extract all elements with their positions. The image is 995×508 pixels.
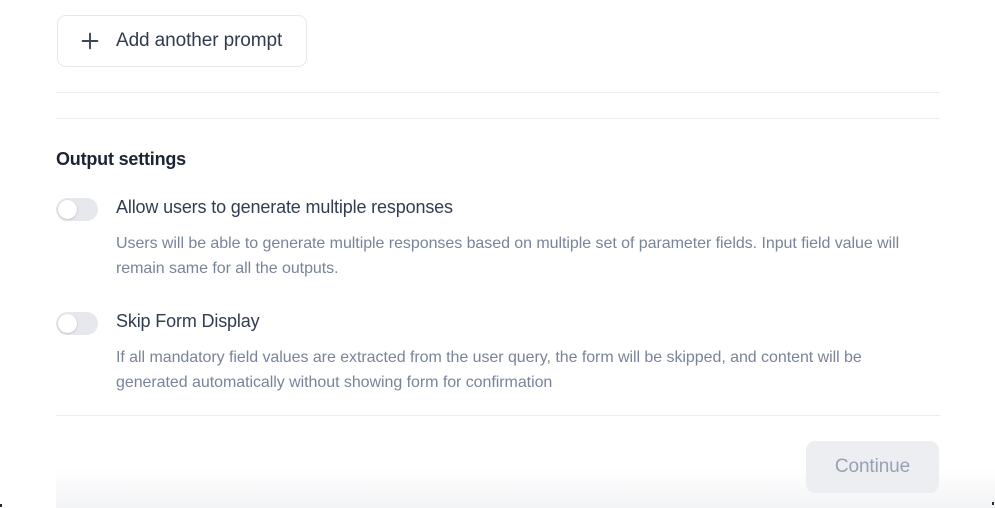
toggle-knob: [58, 314, 77, 333]
setting-text-block: Skip Form Display If all mandatory field…: [116, 310, 916, 395]
add-another-prompt-button[interactable]: Add another prompt: [57, 15, 307, 67]
setting-text-block: Allow users to generate multiple respons…: [116, 196, 916, 281]
add-another-prompt-label: Add another prompt: [116, 30, 282, 52]
setting-row-multiple-responses: Allow users to generate multiple respons…: [56, 196, 946, 281]
setting-label-skip-form-display: Skip Form Display: [116, 310, 916, 332]
plus-icon: [80, 31, 100, 51]
output-settings-title: Output settings: [56, 149, 186, 170]
continue-button[interactable]: Continue: [806, 441, 939, 493]
toggle-allow-multiple-responses[interactable]: [56, 198, 98, 221]
setting-description-skip-form-display: If all mandatory field values are extrac…: [116, 345, 916, 395]
divider-footer: [56, 415, 940, 416]
corner-artifact-bottom-right: [992, 502, 994, 505]
settings-page: Add another prompt Output settings Allow…: [0, 0, 995, 508]
add-prompt-container: Add another prompt: [57, 15, 307, 67]
toggle-skip-form-display[interactable]: [56, 312, 98, 335]
setting-row-skip-form-display: Skip Form Display If all mandatory field…: [56, 310, 946, 395]
toggle-knob: [58, 200, 77, 219]
setting-description-allow-multiple-responses: Users will be able to generate multiple …: [116, 231, 916, 281]
divider-section: [56, 118, 940, 119]
divider-top: [56, 92, 940, 93]
corner-artifact-bottom-left: [0, 504, 2, 507]
setting-label-allow-multiple-responses: Allow users to generate multiple respons…: [116, 196, 916, 218]
